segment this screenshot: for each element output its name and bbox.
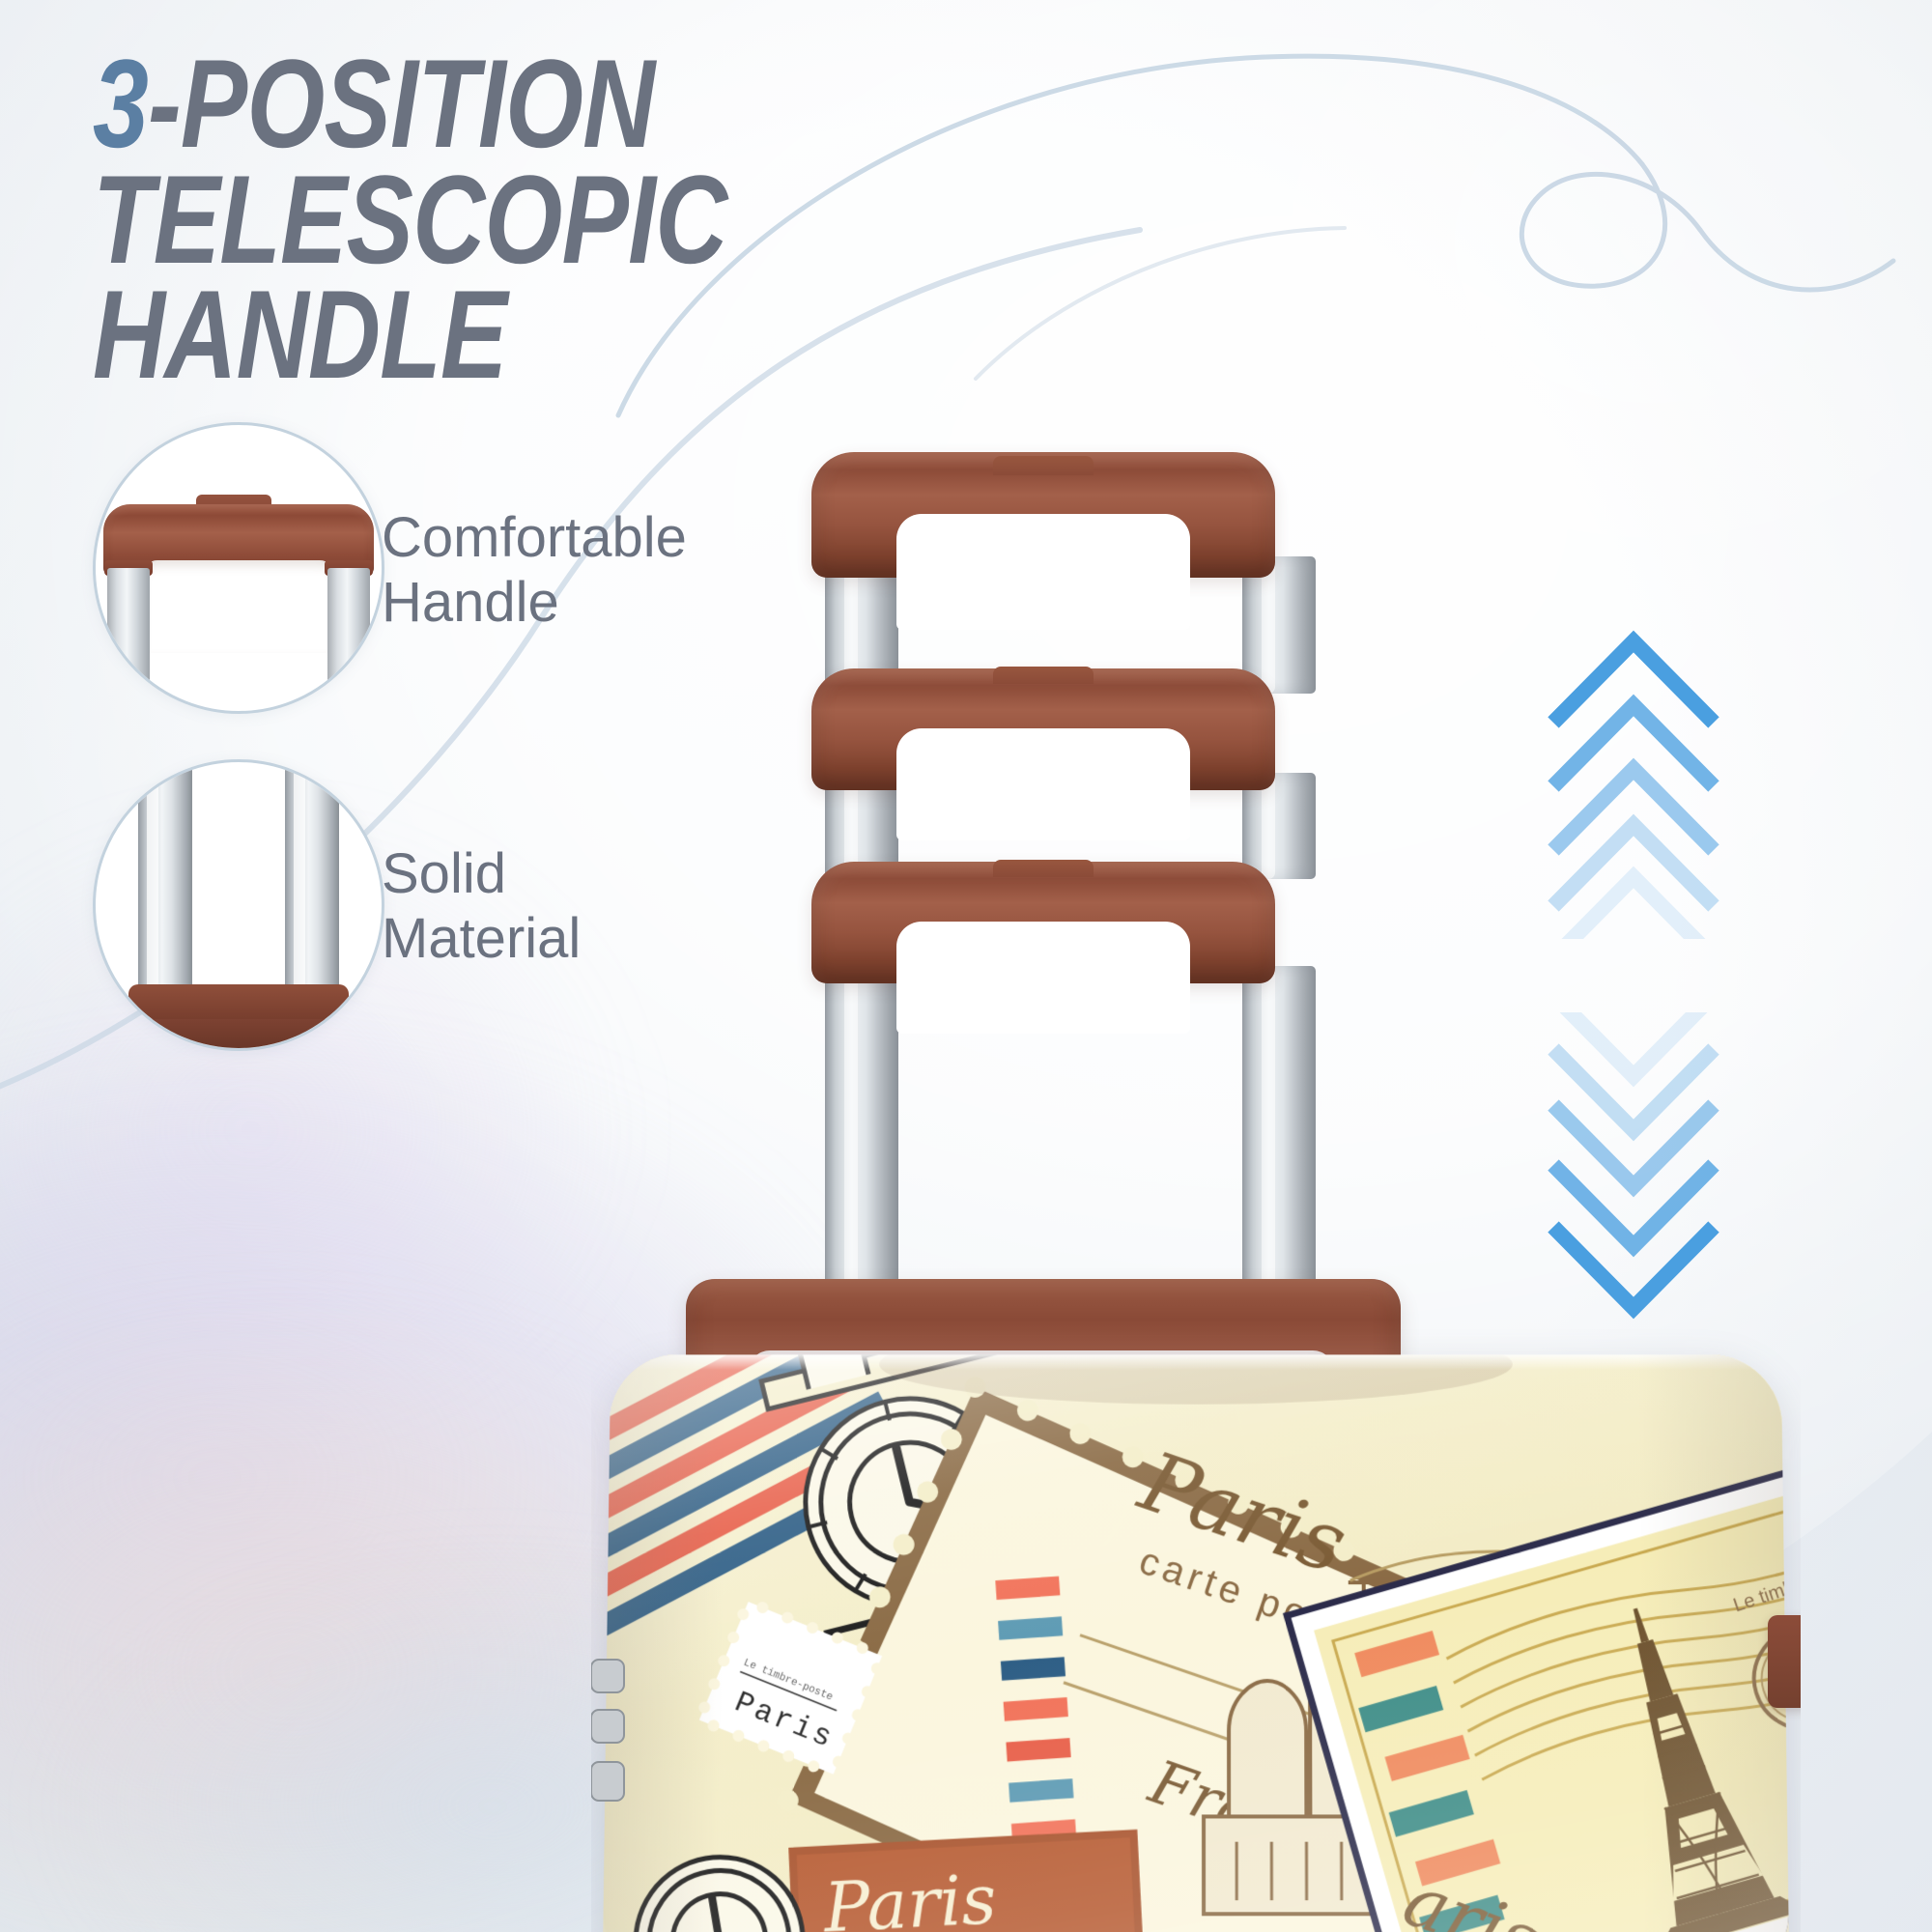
- tube-base-bracket-lower: [146, 1019, 331, 1048]
- paris-print-hardshell-suitcase: Le timbre-poste Paris Paris carte postal…: [591, 1306, 1801, 1932]
- headline-line2: HANDLE: [93, 264, 507, 405]
- suitcase-shell: Le timbre-poste Paris Paris carte postal…: [603, 1354, 1790, 1932]
- feature-label-comfortable-handle: Comfortable Handle: [382, 506, 687, 635]
- suitcase-paris-print: Le timbre-poste Paris Paris carte postal…: [603, 1354, 1790, 1932]
- aluminum-tube-right: [285, 759, 339, 1015]
- suitcase-left-shading: [603, 1354, 726, 1932]
- handle-post-lower-left: [825, 966, 898, 1314]
- side-release-button[interactable]: [1768, 1615, 1801, 1708]
- grip-inner-gap: [142, 560, 335, 653]
- telescopic-handle-assembly: [927, 433, 1526, 1418]
- promo-canvas: 3-POSITION TELESCOPIC HANDLE Comfortable…: [0, 0, 1932, 1932]
- chevron-down-stack: [1542, 1012, 1725, 1331]
- page-title: 3-POSITION TELESCOPIC HANDLE: [93, 46, 1190, 393]
- suitcase-top-edge-highlight: [611, 1354, 1781, 1370]
- feature-label-solid-material: Solid Material: [382, 842, 581, 971]
- handle-post-right: [327, 568, 370, 714]
- grip-inner-gap: [896, 728, 1190, 840]
- print-bottom-paris: Paris: [820, 1860, 998, 1932]
- grip-tab-icon: [993, 456, 1094, 475]
- grip-tab-icon: [993, 667, 1094, 684]
- chevron-up-stack: [1542, 620, 1725, 939]
- grip-tab-icon: [993, 860, 1094, 877]
- handle-grip-top[interactable]: [811, 452, 1275, 578]
- suitcase-right-shading: [1637, 1354, 1789, 1932]
- callout-comfortable-handle: [93, 422, 384, 714]
- callout-solid-material: [93, 759, 384, 1051]
- handle-post-lower-right: [1242, 966, 1316, 1314]
- handle-grip-middle[interactable]: [811, 668, 1275, 790]
- zipper-pull-icon: [591, 1654, 636, 1818]
- grip-inner-gap: [896, 514, 1190, 630]
- aluminum-tube-left: [138, 759, 192, 1015]
- handle-post-left: [107, 568, 150, 714]
- grip-inner-gap: [896, 922, 1190, 1034]
- handle-grip-lower[interactable]: [811, 862, 1275, 983]
- headline-rest: -POSITION TELESCOPIC: [93, 33, 727, 290]
